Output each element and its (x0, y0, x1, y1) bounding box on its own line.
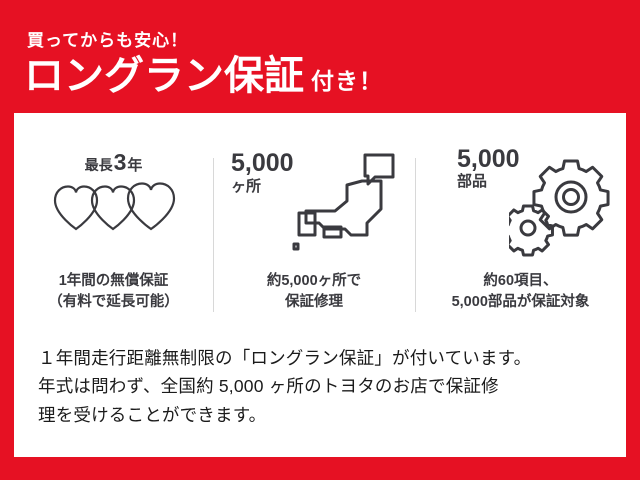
caption-line-2: （有料で延長可能） (14, 292, 213, 313)
metric-label: 5,000 ヶ所 (231, 151, 294, 194)
metric-unit: 年 (127, 157, 142, 174)
feature-caption: 約60項目、 5,000部品が保証対象 (415, 271, 626, 312)
metric-label: 最長3年 (14, 151, 213, 174)
headline-main: ロングラン保証 (24, 54, 304, 98)
caption-line-1: 約5,000ヶ所で (213, 271, 415, 292)
metric-unit: ヶ所 (231, 179, 294, 194)
body-line-1: １年間走行距離無制限の「ロングラン保証」が付いています。 (38, 344, 608, 372)
feature-caption: 約5,000ヶ所で 保証修理 (213, 271, 415, 312)
body-line-3: 理を受けることができます。 (38, 401, 608, 429)
metric-number: 3 (114, 149, 127, 175)
caption-line-2: 5,000部品が保証対象 (415, 292, 626, 313)
body-paragraph: １年間走行距離無制限の「ロングラン保証」が付いています。 年式は問わず、全国約 … (38, 344, 608, 429)
feature-columns: 最長3年 1年間の無償保証 （有料で延長可能） (14, 145, 626, 335)
feature-icon-zone: 最長3年 (14, 145, 213, 267)
gears-icon (509, 157, 617, 262)
warranty-banner: 買ってからも安心！ ロングラン保証付き！ 最長3年 (0, 0, 640, 480)
three-hearts-icon (52, 179, 176, 238)
body-line-2: 年式は問わず、全国約 5,000 ヶ所のトヨタのお店で保証修 (38, 372, 608, 400)
banner-header: 買ってからも安心！ ロングラン保証付き！ (0, 0, 640, 113)
feature-item-warranty-period: 最長3年 1年間の無償保証 （有料で延長可能） (14, 145, 213, 335)
metric-number: 5,000 (231, 151, 294, 176)
caption-line-1: 約60項目、 (415, 271, 626, 292)
header-kicker: 買ってからも安心！ (27, 26, 188, 51)
feature-item-covered-parts: 5,000 部品 (415, 145, 626, 335)
metric-prefix: 最長 (85, 157, 113, 173)
headline-suffix: 付き！ (311, 68, 383, 94)
feature-item-service-locations: 5,000 ヶ所 (213, 145, 415, 335)
feature-icon-zone: 5,000 部品 (415, 145, 626, 267)
feature-caption: 1年間の無償保証 （有料で延長可能） (14, 271, 213, 312)
feature-icon-zone: 5,000 ヶ所 (213, 145, 415, 267)
caption-line-2: 保証修理 (213, 292, 415, 313)
japan-map-icon (289, 151, 401, 264)
content-card: 最長3年 1年間の無償保証 （有料で延長可能） (14, 113, 626, 457)
caption-line-1: 1年間の無償保証 (14, 271, 213, 292)
page-title: ロングラン保証付き！ (24, 56, 383, 96)
